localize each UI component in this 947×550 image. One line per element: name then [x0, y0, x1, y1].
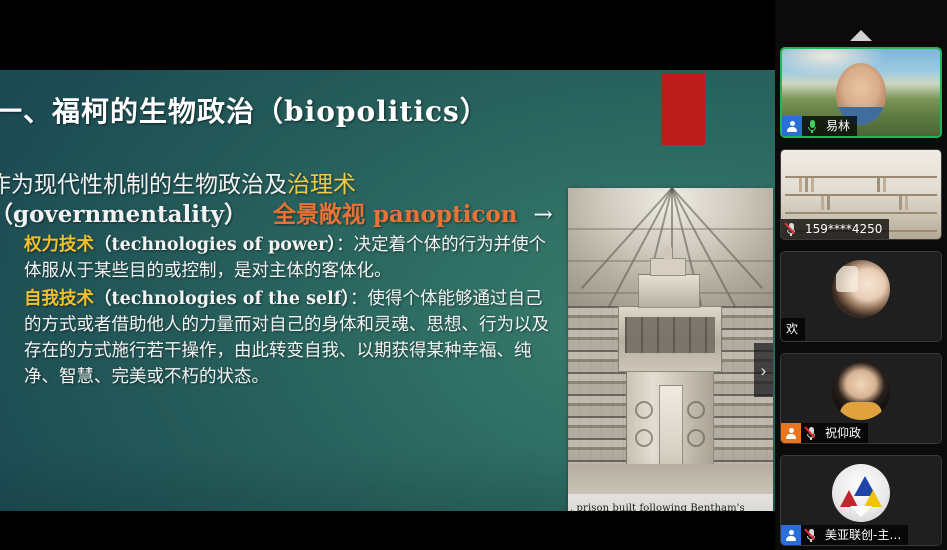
- participant-name-1: 易林: [822, 116, 850, 136]
- participant-name-bar-2: 159****4250: [781, 219, 889, 239]
- mic-muted-icon: [801, 529, 821, 542]
- panopticon-photo-image: [568, 188, 773, 494]
- photo-caption-line1: . prison built following Bentham's model…: [570, 502, 767, 511]
- mic-muted-icon: [801, 427, 821, 440]
- triangle-up-icon: [850, 30, 872, 41]
- power-label: 权力技术: [24, 235, 94, 255]
- person-badge-icon: [781, 423, 801, 443]
- line-gov2-highlight: 全景敞视 panopticon: [273, 201, 518, 228]
- avatar: [832, 362, 890, 420]
- participant-name-4: 祝仰政: [821, 423, 861, 443]
- slide-title: 一、福柯的生物政治（biopolitics）: [0, 90, 694, 130]
- participant-tile-2[interactable]: 159****4250: [780, 149, 942, 240]
- participant-tile-1[interactable]: 易林: [780, 47, 942, 138]
- triangle-down-icon: [850, 506, 872, 517]
- participant-name-3: 欢: [786, 322, 798, 336]
- participant-tile-4[interactable]: 祝仰政: [780, 353, 942, 444]
- participant-name-2: 159****4250: [801, 219, 882, 239]
- scroll-up-button[interactable]: [775, 24, 947, 46]
- mic-unmuted-icon: [802, 120, 822, 133]
- person-badge-icon: [782, 116, 802, 136]
- participant-video-rail[interactable]: 易林: [775, 0, 947, 550]
- participant-name-bar-4: 祝仰政: [781, 423, 868, 443]
- app-window: 一、福柯的生物政治（biopolitics） 作为现代性机制的生物政治及治理术 …: [0, 0, 947, 550]
- presentation-slide[interactable]: 一、福柯的生物政治（biopolitics） 作为现代性机制的生物政治及治理术 …: [0, 70, 775, 511]
- shared-screen-area[interactable]: 一、福柯的生物政治（biopolitics） 作为现代性机制的生物政治及治理术 …: [0, 0, 775, 550]
- photo-caption: . prison built following Bentham's model…: [568, 494, 773, 511]
- mic-muted-icon: [781, 223, 801, 236]
- slide-line-panopticon: （governmentality）全景敞视 panopticon→: [0, 195, 630, 229]
- person-badge-icon: [781, 525, 801, 545]
- participant-name-bar-5: 美亚联创-主…: [781, 525, 908, 545]
- participant-tile-3[interactable]: 欢: [780, 251, 942, 342]
- self-label: 自我技术: [24, 289, 94, 309]
- panopticon-photo: . prison built following Bentham's model…: [568, 188, 773, 511]
- participant-name-bar-3: 欢: [781, 318, 805, 341]
- participant-name-bar-1: 易林: [782, 116, 857, 136]
- power-label-en: （technologies of power）: [94, 235, 336, 255]
- right-arrow-icon: →: [534, 202, 553, 228]
- avatar: [832, 260, 890, 318]
- line-gov2-prefix: （governmentality）: [0, 201, 247, 228]
- bullet-technologies-of-power: 权力技术（technologies of power）：决定着个体的行为并使个体…: [24, 232, 554, 284]
- bullet-technologies-of-self: 自我技术（technologies of the self）：使得个体能够通过自…: [24, 286, 554, 390]
- slide-line-governmentality: 作为现代性机制的生物政治及治理术: [0, 165, 608, 199]
- scroll-down-button[interactable]: [775, 500, 947, 522]
- participant-name-5: 美亚联创-主…: [821, 525, 901, 545]
- self-label-en: （technologies of the self）: [94, 289, 350, 309]
- chevron-right-icon[interactable]: ›: [754, 343, 773, 397]
